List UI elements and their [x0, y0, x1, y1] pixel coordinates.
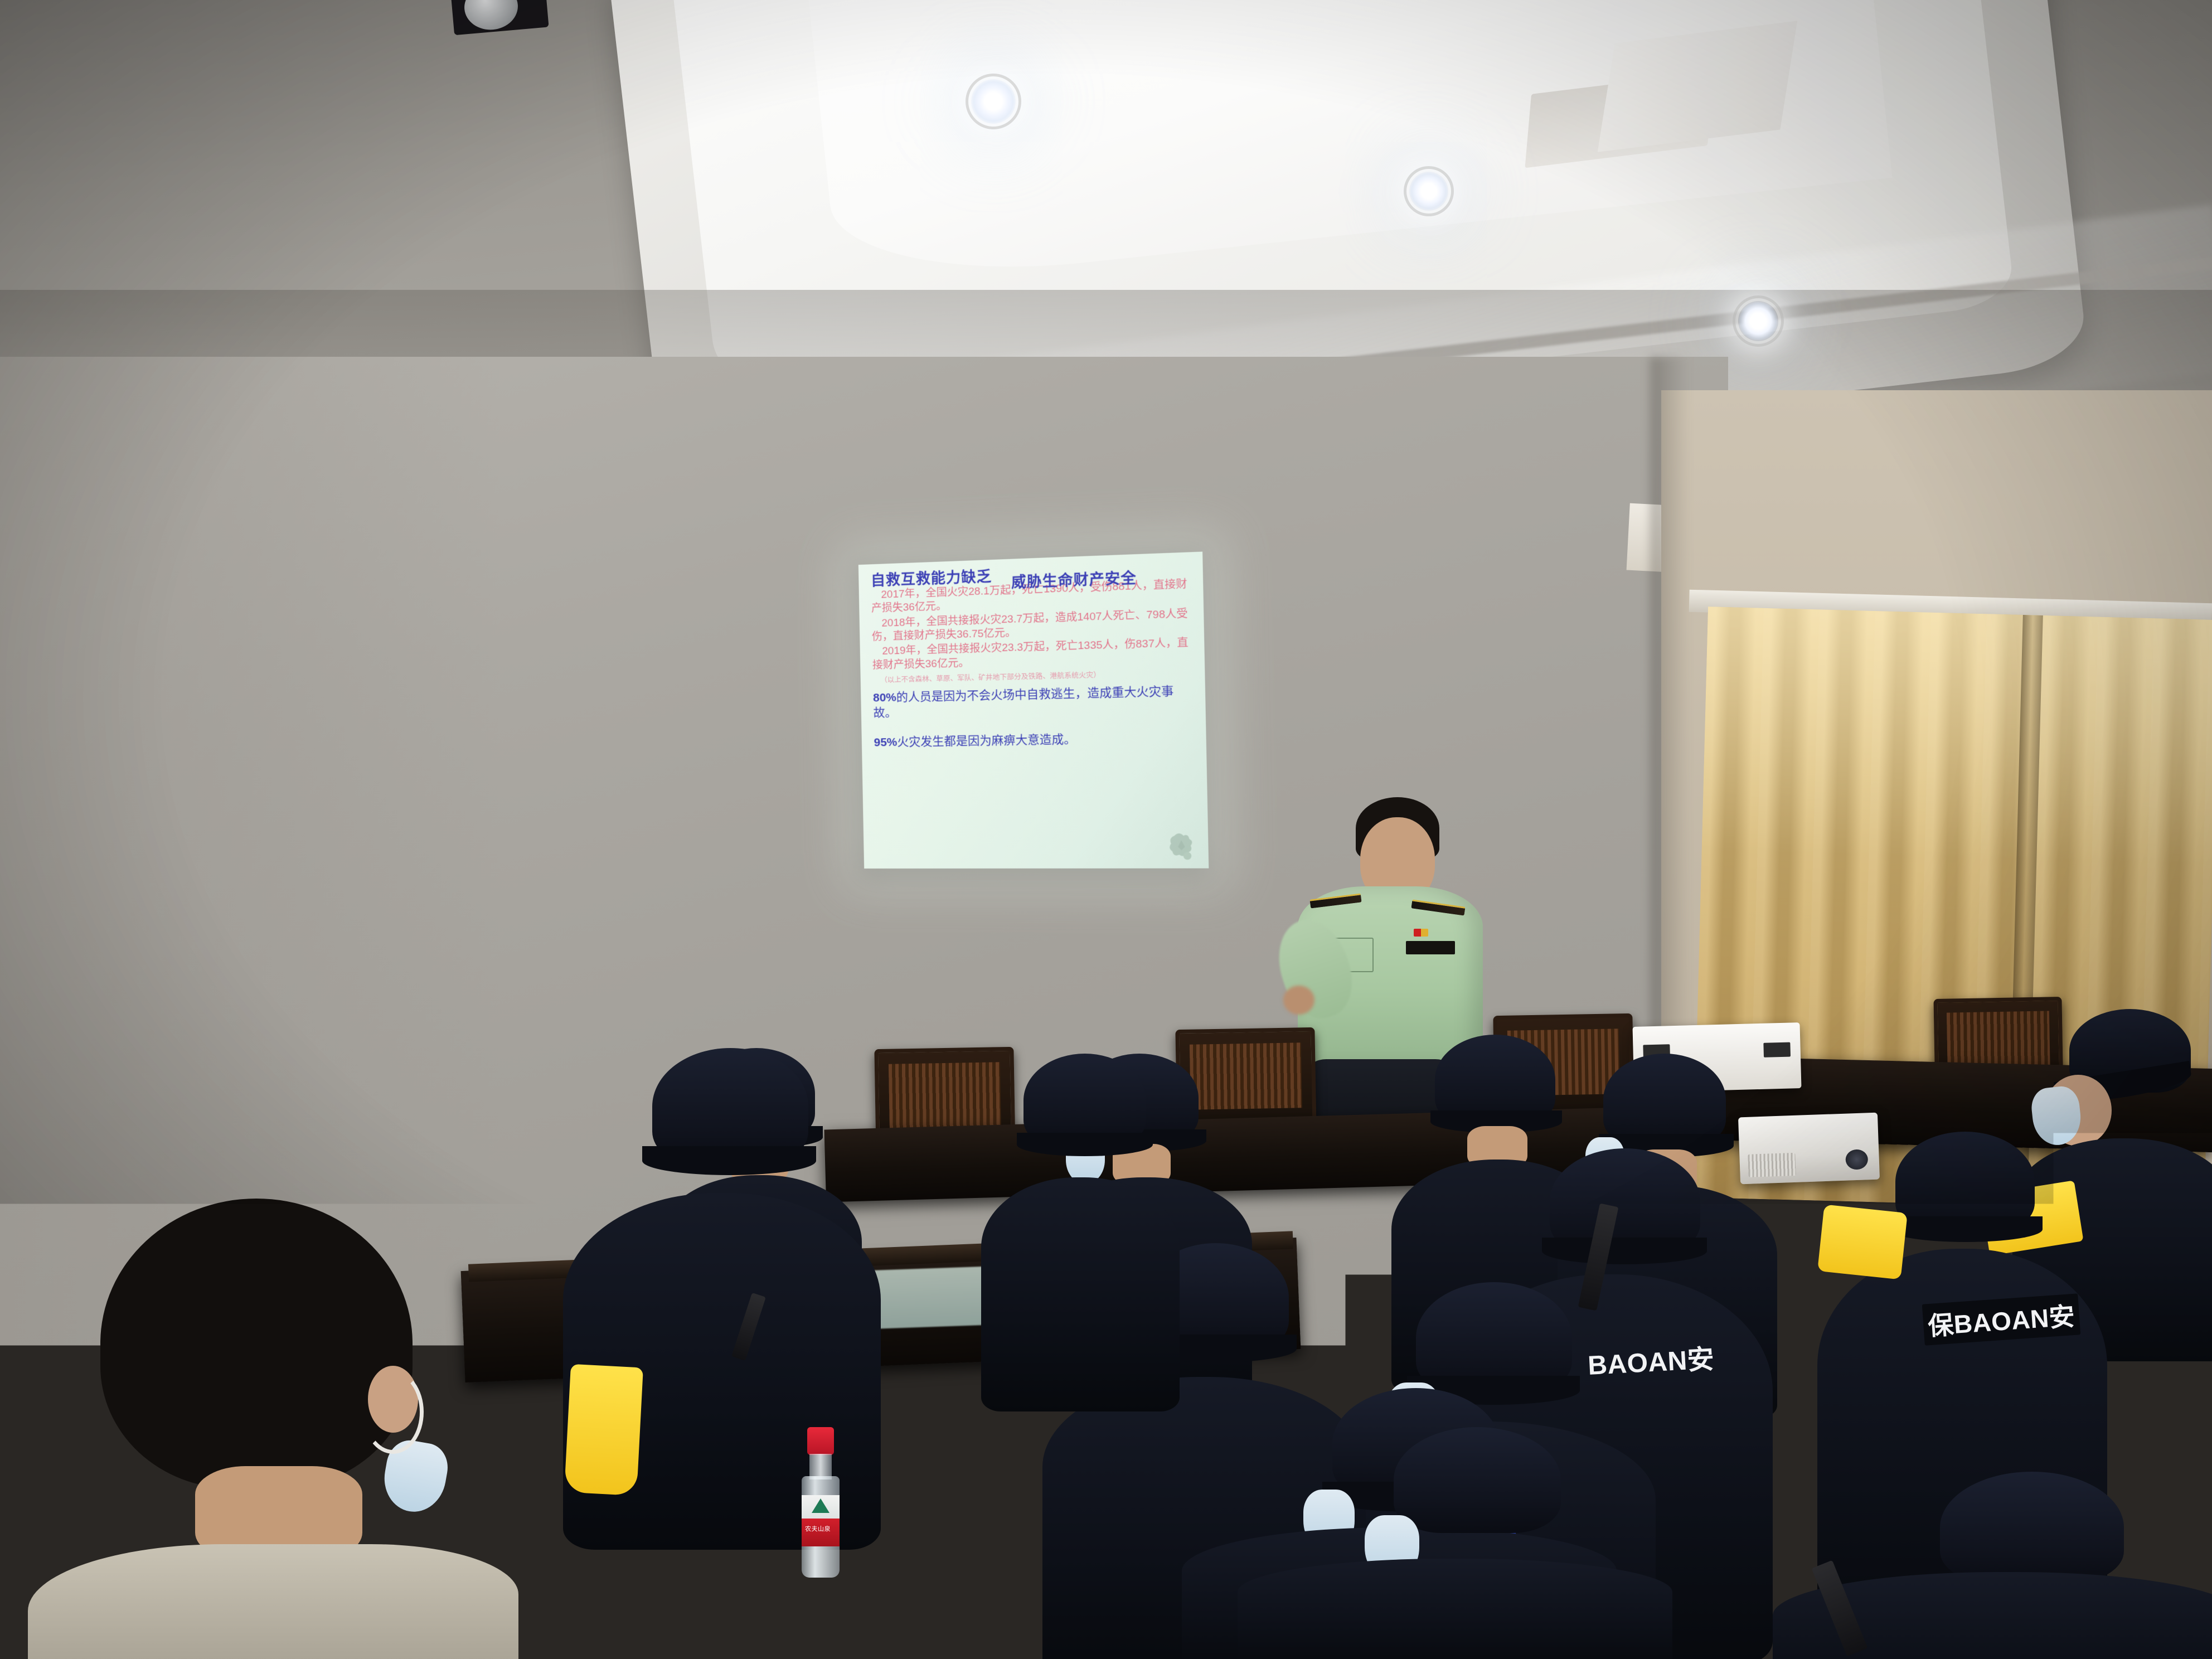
- curtain-light-glow: [1702, 607, 2212, 865]
- uniform-cap: [1394, 1427, 1561, 1533]
- bottle-mountain-icon: [812, 1498, 829, 1513]
- case-clasp: [1763, 1042, 1791, 1058]
- slide-highlight-95-text: 火灾发生都是因为麻痹大意造成。: [897, 733, 1076, 749]
- presenter-hand: [1283, 986, 1314, 1015]
- slide-highlight-95: 95%火灾发生都是因为麻痹大意造成。: [874, 730, 1194, 750]
- clock-face: [463, 0, 520, 32]
- presenter-nametag: [1406, 941, 1455, 954]
- downlight-ring: [1733, 295, 1784, 347]
- downlight-ring: [966, 74, 1021, 129]
- uniform-torso: [1238, 1559, 1672, 1659]
- cap-brim: [642, 1146, 816, 1175]
- audience-member: [976, 1054, 1187, 1410]
- lecture-room-photo: 自救互救能力缺乏 威胁生命财产安全 2017年，全国火灾28.1万起，死亡139…: [0, 0, 2212, 1659]
- slide-title-right: 威胁生命财产安全: [1011, 570, 1137, 590]
- foreground-person-head: [100, 1199, 413, 1488]
- presenter-party-pin-icon: [1414, 929, 1428, 937]
- water-bottle[interactable]: 农夫山泉: [797, 1427, 844, 1578]
- bottle-brand-label: 农夫山泉: [805, 1524, 831, 1533]
- cap-brim: [1017, 1133, 1153, 1156]
- uniform-cap: [1940, 1472, 2124, 1583]
- slide-highlight-95-pct: 95%: [874, 736, 897, 749]
- mask-ear-loop: [362, 1370, 424, 1454]
- cap-brim: [1889, 1216, 2043, 1242]
- slide-highlight-80-text: 的人员是因为不会火场中自救逃生，造成重大火灾事故。: [873, 685, 1173, 720]
- bottle-label-lower: 农夫山泉: [802, 1519, 840, 1546]
- slide-watermark-icon: [1164, 830, 1199, 864]
- slide-highlight-80: 80%的人员是因为不会火场中自救逃生，造成重大火灾事故。: [873, 683, 1194, 721]
- slide-highlight-80-pct: 80%: [873, 691, 896, 704]
- uniform-torso: [981, 1177, 1180, 1411]
- projection-screen: 自救互救能力缺乏 威胁生命财产安全 2017年，全国火灾28.1万起，死亡139…: [858, 552, 1209, 869]
- security-armband: [564, 1364, 643, 1496]
- cap-brim: [1542, 1238, 1707, 1264]
- downlight-ring: [1404, 166, 1454, 216]
- foreground-person: [67, 1199, 491, 1659]
- foreground-person-shirt: [28, 1544, 518, 1659]
- bottle-cap: [807, 1427, 834, 1455]
- audience-member: [1260, 1427, 1650, 1659]
- security-armband: [1817, 1204, 1908, 1279]
- uniform-cap: [1603, 1054, 1726, 1146]
